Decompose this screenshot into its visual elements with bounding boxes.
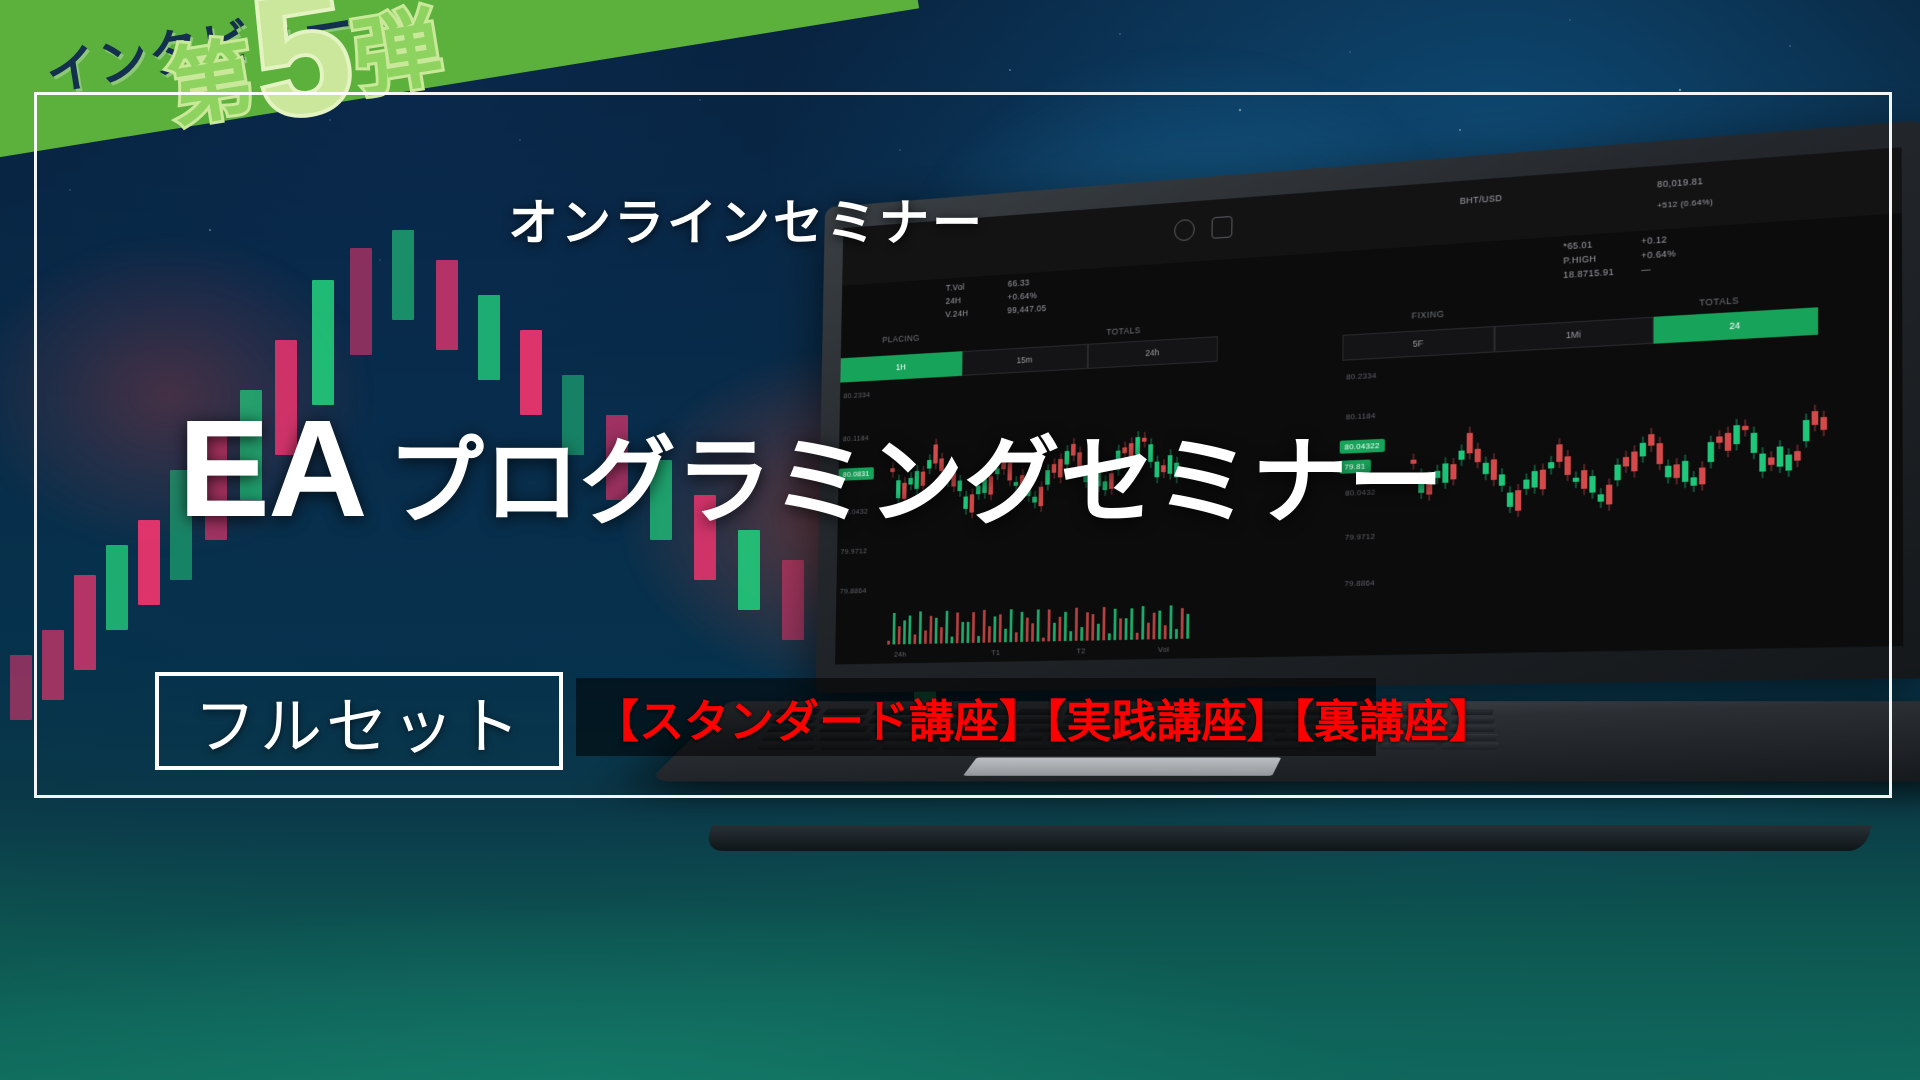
volume-bar	[1102, 607, 1105, 640]
mini-candle	[1491, 453, 1497, 486]
mini-candle	[1777, 440, 1784, 473]
volume-bar	[887, 641, 890, 645]
mini-candle	[1640, 436, 1646, 463]
mini-candle	[1673, 458, 1679, 485]
mini-candle	[1631, 445, 1637, 478]
volume-bar	[1186, 614, 1189, 638]
chart-footer-1: T1	[991, 648, 1000, 657]
mini-candle	[1785, 448, 1792, 477]
volume-bar	[924, 631, 927, 644]
mini-candle	[1812, 405, 1819, 432]
volume-bar	[950, 636, 953, 643]
volume-bar	[1169, 605, 1172, 639]
panel-0-title: PLACING	[882, 333, 920, 345]
mini-candle	[1573, 472, 1579, 489]
title-latin: EA	[178, 400, 366, 538]
panel-0-tab-0[interactable]: 1H	[840, 351, 962, 382]
mini-candle	[1623, 451, 1629, 473]
mini-candle	[1699, 462, 1705, 491]
fullset-label: フルセット	[194, 676, 524, 766]
volume-bar	[1047, 609, 1050, 641]
mini-candle	[1531, 465, 1537, 493]
mini-candle	[1708, 436, 1714, 469]
eyebrow-text: オンラインセミナー	[508, 183, 985, 255]
volume-bar	[966, 622, 969, 643]
volume-bar	[1136, 632, 1139, 639]
mini-candle	[1648, 427, 1654, 452]
volume-bar	[993, 617, 996, 643]
volume-bar	[1015, 632, 1018, 642]
mini-candle	[1507, 486, 1513, 512]
volume-bar	[945, 611, 948, 643]
mini-candle	[1725, 426, 1731, 457]
volume-bar	[1164, 626, 1167, 639]
volume-bar	[1036, 610, 1039, 642]
volume-bar	[1069, 631, 1072, 641]
volume-bar	[1009, 609, 1012, 642]
panel-0-axis-0: 80.2334	[843, 390, 870, 400]
mini-candle	[1606, 478, 1612, 511]
mini-candle	[1794, 445, 1801, 468]
volume-bar	[1108, 633, 1111, 640]
volume-bar	[1147, 623, 1150, 639]
volume-bar	[1181, 609, 1184, 639]
volume-bar	[898, 626, 901, 645]
mini-candle	[1548, 456, 1554, 475]
mini-candle	[1733, 419, 1739, 451]
courses-label: 【スタンダード講座】【実践講座】【裏講座】	[576, 685, 1494, 750]
mini-candle	[1768, 451, 1775, 471]
mini-candle	[1751, 427, 1757, 459]
chart-footer-0: 24h	[894, 650, 907, 659]
corner-banner: インタビュー 第 5 弾	[0, 0, 1920, 330]
panel-0-tab-2[interactable]: 24h	[1088, 336, 1218, 369]
edition-suffix: 弾	[344, 0, 449, 114]
mini-candle	[1556, 438, 1562, 468]
mini-candle	[1450, 458, 1456, 486]
volume-bar	[1086, 612, 1089, 640]
volume-bar	[1020, 612, 1023, 642]
mini-candle	[1657, 437, 1663, 471]
mini-candle	[1458, 444, 1464, 466]
mini-candle	[1690, 471, 1696, 493]
volume-bar	[1141, 606, 1144, 639]
mini-candle	[1598, 488, 1604, 508]
volume-bar	[1042, 638, 1045, 642]
volume-bar	[1031, 623, 1034, 642]
mini-candle	[1475, 442, 1481, 468]
mini-candle	[1581, 464, 1587, 496]
volume-bar	[988, 627, 991, 643]
banner-text-group: インタビュー 第 5 弾	[18, 0, 596, 180]
mini-candle	[1589, 469, 1595, 499]
panel-0-axis-4: 79.8864	[840, 586, 867, 595]
volume-bar	[1130, 608, 1133, 639]
mini-candle	[1564, 450, 1570, 481]
volume-bar	[1064, 611, 1067, 641]
volume-bar	[929, 616, 932, 644]
mini-candle	[1467, 427, 1473, 460]
panel-0-volume-chart	[887, 599, 1205, 645]
volume-bar	[961, 622, 964, 643]
laptop-base-edge	[704, 825, 1871, 851]
mini-candle	[1820, 411, 1827, 436]
volume-bar	[1158, 611, 1161, 639]
chart-footer-3: Vol	[1158, 645, 1169, 654]
volume-bar	[1175, 629, 1178, 639]
courses-badge: 【スタンダード講座】【実践講座】【裏講座】	[576, 678, 1376, 756]
volume-bar	[908, 615, 911, 644]
volume-bar	[999, 615, 1002, 643]
volume-bar	[972, 612, 975, 643]
panel-1-tab-0[interactable]: 5F	[1342, 326, 1495, 361]
volume-bar	[1075, 608, 1078, 641]
mini-candle	[1614, 458, 1620, 486]
mini-candle	[1682, 455, 1688, 488]
mini-candle	[1759, 447, 1766, 478]
volume-bar	[956, 613, 959, 644]
seminar-banner-image: BHT/USD 80,019.81 +512 (0.64%) T.Vol 66.…	[0, 0, 1920, 1080]
volume-bar	[1113, 609, 1116, 640]
volume-bar	[1119, 618, 1122, 640]
mini-candle	[1716, 430, 1722, 449]
volume-bar	[1053, 622, 1056, 641]
panel-1-axis-4: 79.8864	[1344, 578, 1375, 588]
mini-candle	[1499, 468, 1505, 492]
volume-bar	[983, 610, 986, 642]
volume-bar	[935, 618, 938, 644]
volume-bar	[919, 611, 922, 643]
edition-number: 5	[244, 0, 360, 131]
volume-bar	[1080, 627, 1083, 640]
volume-bar	[1026, 618, 1029, 642]
mini-candle	[1483, 456, 1489, 480]
mini-candle	[1540, 463, 1546, 495]
mini-candle	[1742, 419, 1748, 436]
volume-bar	[1152, 613, 1155, 640]
volume-bar	[1058, 617, 1061, 641]
edition-label: 第 5 弾	[153, 0, 448, 144]
volume-bar	[977, 636, 980, 643]
mini-candle	[1523, 473, 1529, 495]
panel-0-axis-3: 79.9712	[840, 547, 867, 556]
laptop-trackpad	[963, 757, 1281, 775]
title-japanese: プログラミングセミナー	[388, 433, 1444, 534]
volume-bar	[1125, 618, 1128, 640]
panel-1-axis-0: 80.2334	[1346, 371, 1376, 382]
mini-candle	[1803, 414, 1810, 448]
volume-bar	[1091, 614, 1094, 640]
mini-candle	[1665, 459, 1671, 483]
volume-bar	[892, 613, 895, 644]
volume-bar	[1004, 629, 1007, 642]
edition-prefix: 第	[158, 7, 263, 144]
volume-bar	[903, 621, 906, 645]
panel-1-candle-chart	[1409, 337, 1851, 614]
volume-bar	[940, 628, 943, 644]
mini-candle	[1515, 484, 1521, 517]
fullset-badge: フルセット	[155, 672, 563, 770]
page-title: EA プログラミングセミナー	[178, 400, 1444, 538]
chart-footer-2: T2	[1076, 647, 1085, 656]
volume-bar	[1097, 624, 1100, 640]
volume-bar	[913, 634, 916, 644]
panel-0-tab-1[interactable]: 15m	[962, 344, 1088, 376]
